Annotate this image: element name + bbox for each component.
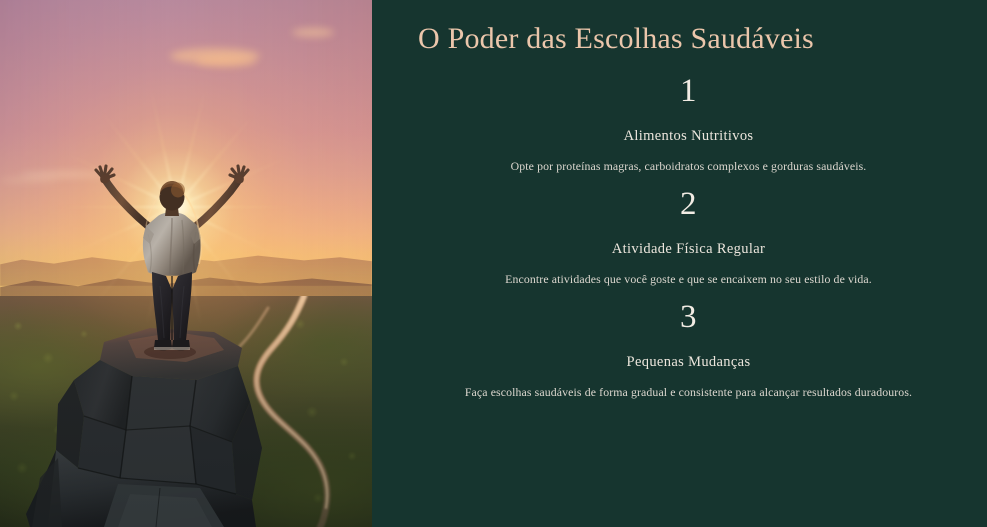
step-description: Faça escolhas saudáveis de forma gradual… xyxy=(418,385,959,400)
page-title: O Poder das Escolhas Saudáveis xyxy=(418,22,959,57)
step-number: 1 xyxy=(418,75,959,108)
hero-photo xyxy=(0,0,372,527)
list-item: 3 Pequenas Mudanças Faça escolhas saudáv… xyxy=(418,301,959,400)
step-number: 3 xyxy=(418,301,959,334)
valley-forest xyxy=(0,296,372,527)
step-number: 2 xyxy=(418,188,959,221)
list-item: 2 Atividade Física Regular Encontre ativ… xyxy=(418,188,959,287)
step-heading: Alimentos Nutritivos xyxy=(418,128,959,145)
slide-root: O Poder das Escolhas Saudáveis 1 Aliment… xyxy=(0,0,987,527)
step-description: Opte por proteínas magras, carboidratos … xyxy=(418,159,959,174)
step-description: Encontre atividades que você goste e que… xyxy=(418,272,959,287)
step-heading: Atividade Física Regular xyxy=(418,241,959,258)
list-item: 1 Alimentos Nutritivos Opte por proteína… xyxy=(418,75,959,174)
content-panel: O Poder das Escolhas Saudáveis 1 Aliment… xyxy=(372,0,987,527)
steps-list: 1 Alimentos Nutritivos Opte por proteína… xyxy=(418,75,959,400)
step-heading: Pequenas Mudanças xyxy=(418,354,959,371)
